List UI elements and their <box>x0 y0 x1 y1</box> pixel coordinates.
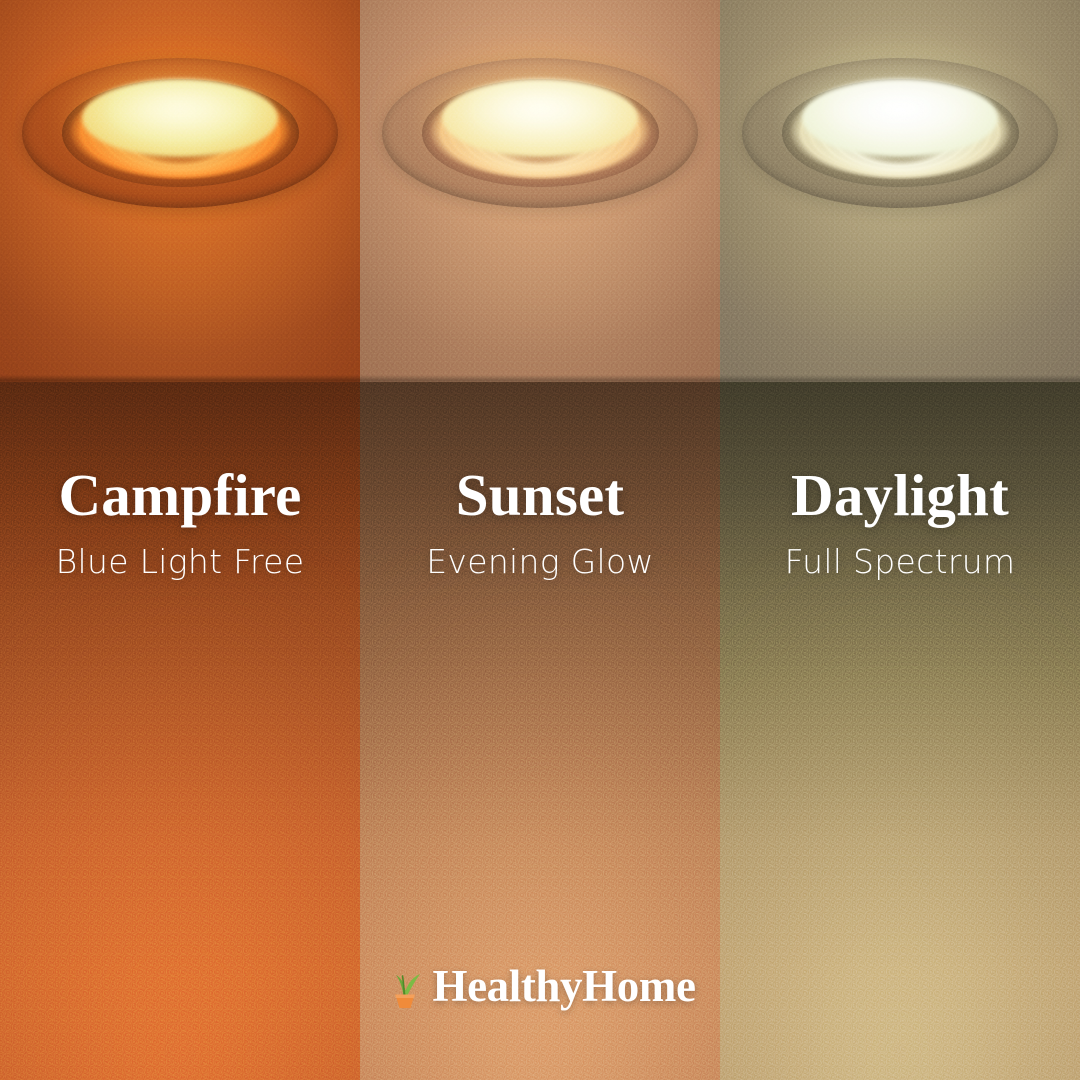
caption-daylight: Daylight Full Spectrum <box>720 466 1080 578</box>
panel-subtitle: Full Spectrum <box>720 545 1080 578</box>
recessed-downlight-icon <box>742 58 1058 208</box>
panel-title: Campfire <box>0 466 360 525</box>
panel-campfire[interactable]: Campfire Blue Light Free <box>0 0 360 1080</box>
comparison-image: Campfire Blue Light Free <box>0 0 1080 1080</box>
ceiling-campfire <box>0 0 360 383</box>
caption-campfire: Campfire Blue Light Free <box>0 466 360 578</box>
panel-sunset[interactable]: Sunset Evening Glow <box>360 0 720 1080</box>
sprout-in-pot-icon <box>384 962 424 1010</box>
ceiling-daylight <box>720 0 1080 383</box>
recessed-downlight-icon <box>22 58 338 208</box>
panel-title: Sunset <box>360 466 720 525</box>
recessed-downlight-icon <box>382 58 698 208</box>
logo-wordmark: HealthyHome <box>432 964 695 1009</box>
ceiling-sunset <box>360 0 720 383</box>
brand-logo[interactable]: HealthyHome <box>0 962 1080 1010</box>
panel-subtitle: Evening Glow <box>360 545 720 578</box>
panel-daylight[interactable]: Daylight Full Spectrum <box>720 0 1080 1080</box>
panel-title: Daylight <box>720 466 1080 525</box>
caption-sunset: Sunset Evening Glow <box>360 466 720 578</box>
panel-subtitle: Blue Light Free <box>0 545 360 578</box>
